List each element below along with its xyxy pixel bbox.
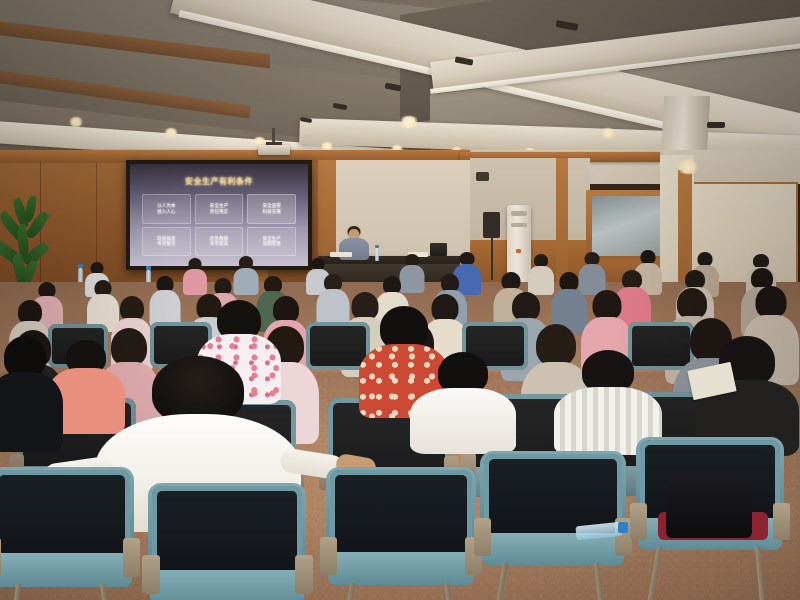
chair[interactable]	[152, 486, 302, 600]
attendee-white-shirt	[408, 352, 518, 448]
table-paper	[330, 252, 352, 257]
laptop	[430, 243, 447, 256]
attendee-striped-shirt	[552, 350, 664, 448]
backpack	[666, 476, 752, 538]
slide-cell: 应急救援 水平提高	[195, 227, 244, 257]
slide-cell-line2: 专项整治	[157, 241, 175, 246]
attendee	[182, 258, 208, 294]
wall-speaker	[476, 172, 489, 181]
slide-cell: 隐患排查 专项整治	[142, 227, 191, 257]
slide-cell: 安全生产 法制完善	[247, 227, 296, 257]
slide-cell-line2: 责任落实	[210, 209, 228, 214]
slide-cell: 安全生产 责任落实	[195, 194, 244, 224]
screen-surface: 安全生产有利条件 以人为本 进入人心 安全生产 责任落实 安全监管 科技支撑 隐…	[130, 164, 308, 266]
slide-content-grid: 以人为本 进入人心 安全生产 责任落实 安全监管 科技支撑 隐患排查 专项整治 …	[142, 194, 296, 256]
water-bottle	[78, 268, 83, 283]
chair[interactable]	[330, 470, 472, 598]
seminar-room-photo: 安全生产有利条件 以人为本 进入人心 安全生产 责任落实 安全监管 科技支撑 隐…	[0, 0, 800, 600]
bottle-cap	[375, 245, 379, 248]
downlight	[600, 128, 616, 138]
downlight	[676, 160, 700, 174]
chair[interactable]	[484, 454, 622, 578]
ceiling-vent	[707, 122, 725, 128]
downlight	[68, 117, 84, 127]
pa-speaker	[483, 212, 500, 238]
water-bottle	[375, 248, 379, 261]
potted-plant	[2, 196, 58, 296]
ceiling-projector	[258, 145, 290, 155]
downlight	[398, 116, 420, 128]
bottle-cap	[146, 266, 151, 270]
bottle-cap	[78, 264, 83, 268]
slide-cell-line2: 科技支撑	[262, 209, 280, 214]
downlight	[163, 128, 179, 138]
slide-cell: 安全监管 科技支撑	[247, 194, 296, 224]
chair[interactable]	[0, 470, 130, 600]
slide-cell-line2: 水平提高	[210, 241, 228, 246]
wood-trim	[556, 158, 568, 282]
ceiling	[0, 0, 800, 172]
slide-cell-line2: 进入人心	[157, 209, 175, 214]
bottle-cap	[618, 522, 628, 533]
slide-title: 安全生产有利条件	[130, 176, 308, 187]
attendee-dark-shirt	[0, 336, 64, 446]
slide-cell-line2: 法制完善	[262, 241, 280, 246]
slide-cell: 以人为本 进入人心	[142, 194, 191, 224]
projection-screen: 安全生产有利条件 以人为本 进入人心 安全生产 责任落实 安全监管 科技支撑 隐…	[126, 160, 312, 270]
